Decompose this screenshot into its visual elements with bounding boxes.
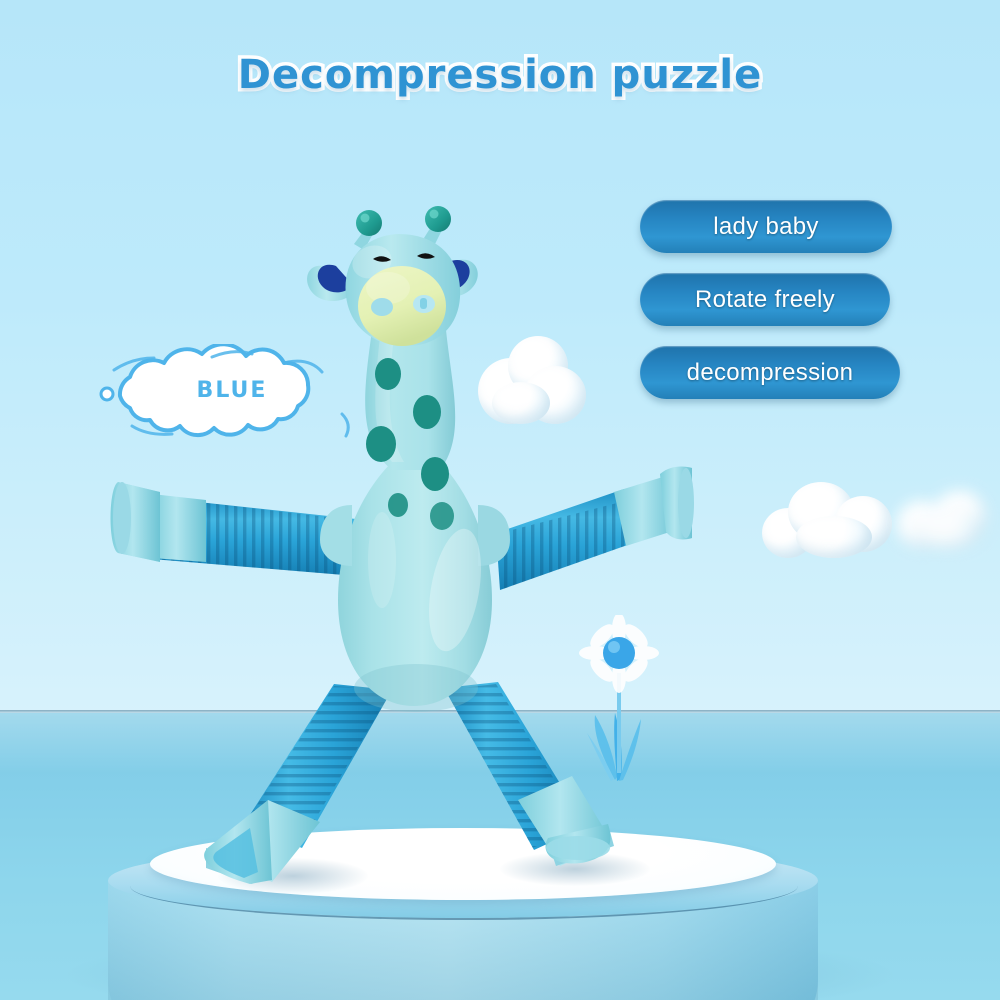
- right-arm-pop-tube: [496, 467, 694, 591]
- left-leg-pop-tube: [204, 684, 392, 884]
- giraffe-head: [307, 206, 478, 346]
- left-arm-pop-tube: [111, 482, 357, 576]
- pop-tube-giraffe-toy[interactable]: [0, 0, 1000, 1000]
- left-nostril: [371, 298, 393, 316]
- product-poster-scene: Decompression puzzle lady baby Rotate fr…: [0, 0, 1000, 1000]
- giraffe-body: [320, 456, 510, 712]
- right-leg-pop-tube: [444, 682, 614, 866]
